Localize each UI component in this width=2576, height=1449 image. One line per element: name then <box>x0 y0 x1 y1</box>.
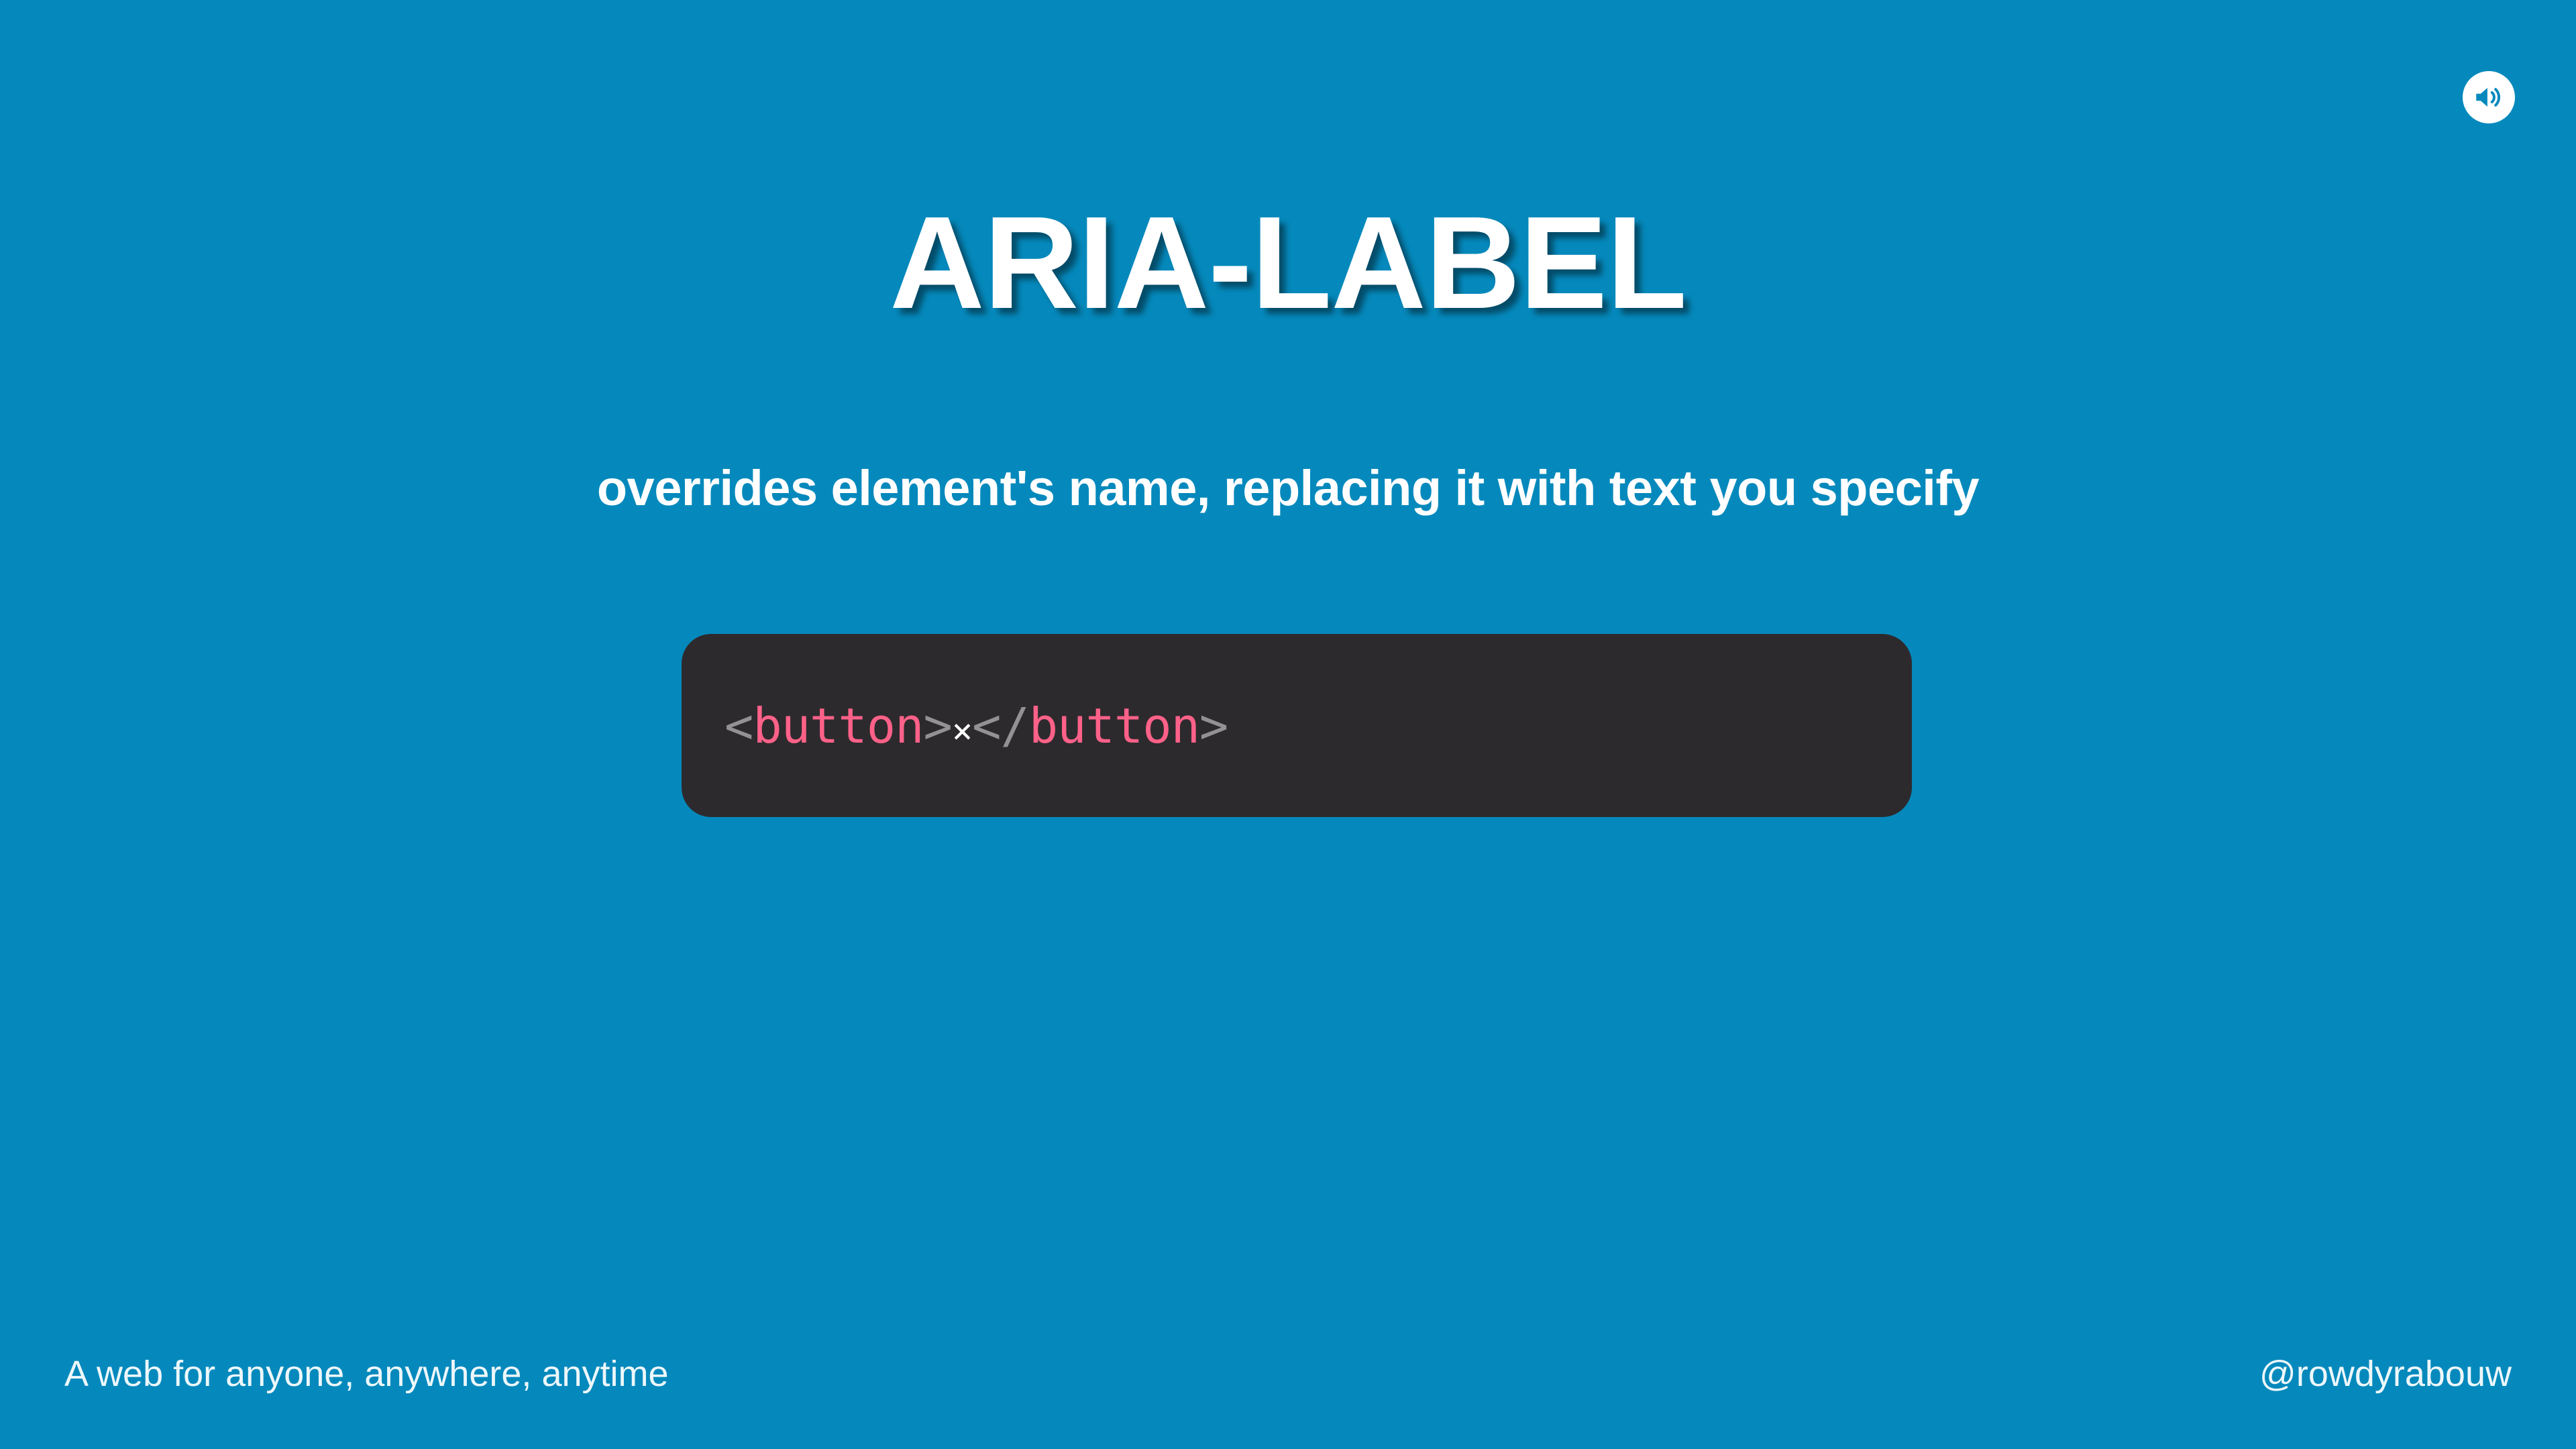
code-token-content: × <box>952 711 972 751</box>
slide-subtitle: overrides element's name, replacing it w… <box>0 458 2576 520</box>
code-token-close-bracket: </ <box>972 698 1029 754</box>
code-line: <button>×</button> <box>724 702 1228 750</box>
volume-up-glyph <box>2472 80 2506 114</box>
footer-tagline: A web for anyone, anywhere, anytime <box>64 1352 669 1396</box>
page-title: ARIA-LABEL <box>0 192 2576 334</box>
code-token-open-bracket: < <box>724 698 753 754</box>
code-token-close-bracket-close: > <box>1199 698 1228 754</box>
volume-up-icon[interactable] <box>2463 71 2515 123</box>
presentation-slide: ARIA-LABEL overrides element's name, rep… <box>0 0 2576 1449</box>
code-token-open-bracket-close: > <box>923 698 951 754</box>
code-block: <button>×</button> <box>682 634 1912 817</box>
footer-handle: @rowdyrabouw <box>2259 1352 2512 1396</box>
code-token-close-tag-name: button <box>1029 698 1199 754</box>
code-token-open-tag-name: button <box>753 698 923 754</box>
